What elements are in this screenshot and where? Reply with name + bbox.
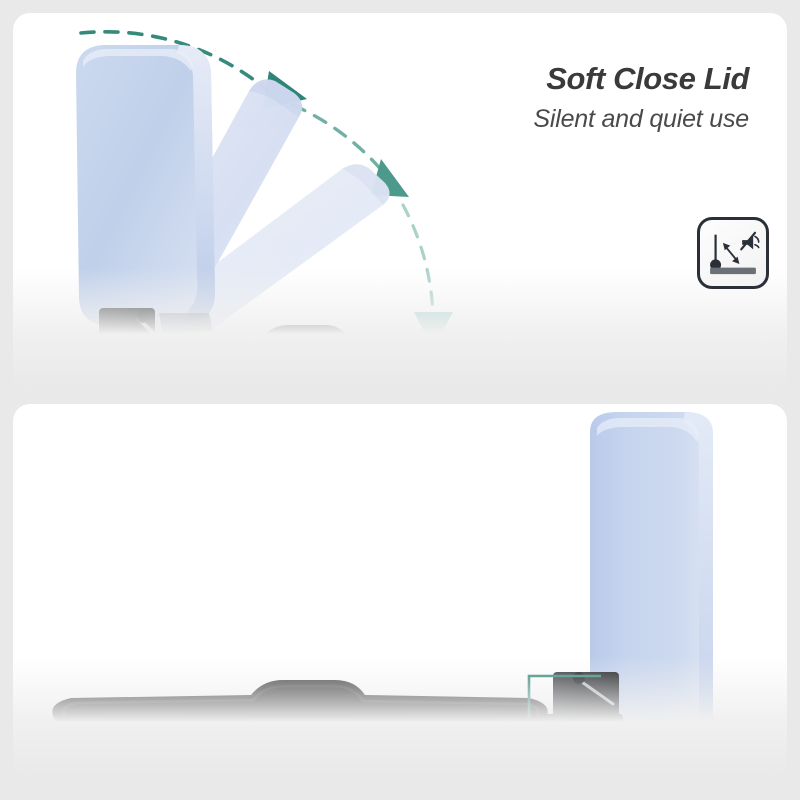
base-bar-icon — [710, 268, 756, 274]
double-arrow-icon — [723, 243, 740, 264]
infographic-page: Soft Close Lid Silent and quiet use — [0, 0, 800, 800]
soft-close-text-block: Soft Close Lid Silent and quiet use — [533, 61, 749, 136]
soft-close-badge — [697, 217, 769, 289]
panel-floor-gradient — [13, 656, 787, 776]
mute-speaker-icon — [741, 233, 758, 250]
subtitle-soft-close: Silent and quiet use — [533, 103, 749, 136]
page-title-soft-close: Soft Close Lid — [533, 61, 749, 97]
panel-floor-gradient — [13, 268, 787, 388]
panel-stay-open: Stay Open Design Convenient for doing le… — [13, 404, 787, 776]
panel-soft-close: Soft Close Lid Silent and quiet use — [13, 13, 787, 388]
